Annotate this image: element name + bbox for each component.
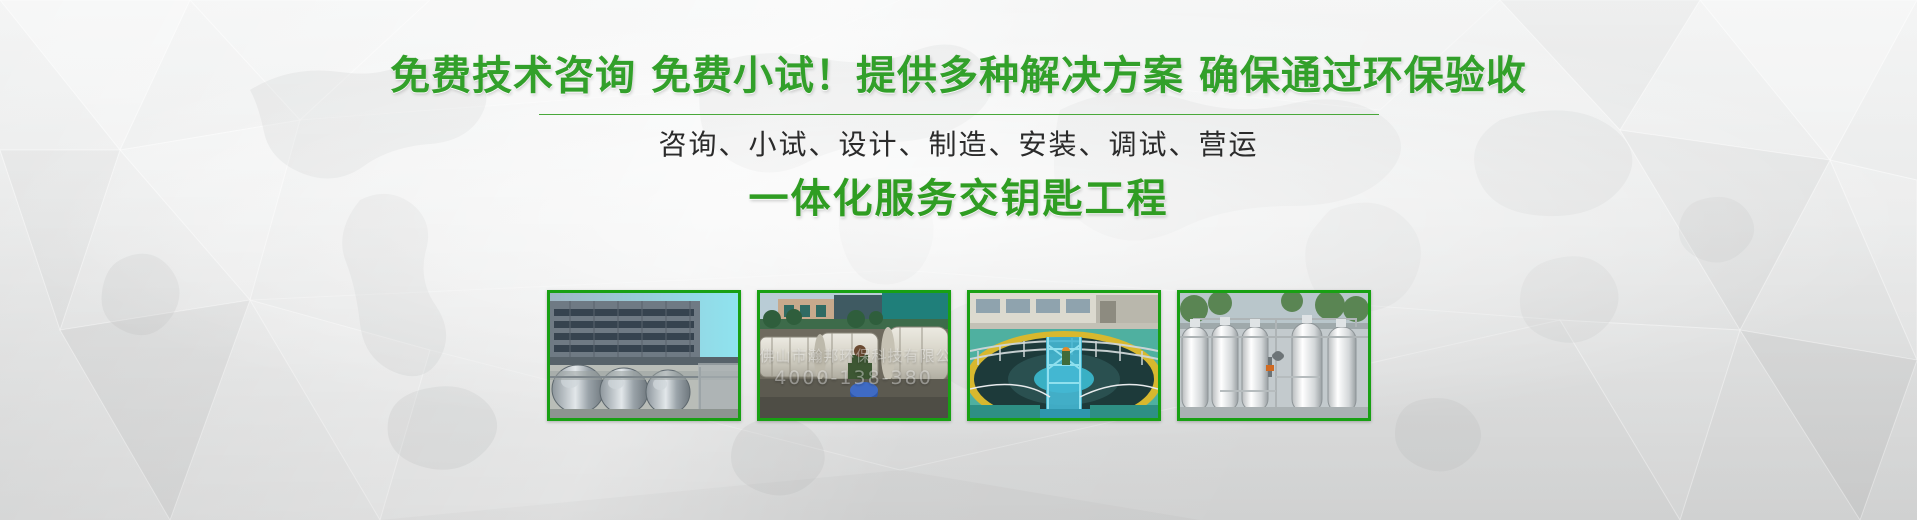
watermark-company: 佛山市瀚邦环保科技有限公司 xyxy=(760,345,948,366)
banner-subline: 咨询、小试、设计、制造、安装、调试、营运 xyxy=(0,115,1917,159)
photo-thumbnail[interactable]: 佛山市瀚邦环保科技有限公司 4000-138-380 xyxy=(757,290,951,421)
filter-vessels-image xyxy=(1180,293,1368,418)
promo-banner: 免费技术咨询 免费小试！提供多种解决方案 确保通过环保验收 咨询、小试、设计、制… xyxy=(0,0,1917,520)
watermark-phone: 4000-138-380 xyxy=(760,367,948,389)
photo-strip: 佛山市瀚邦环保科技有限公司 4000-138-380 xyxy=(0,290,1917,421)
sedimentation-tank-image xyxy=(970,293,1158,418)
banner-content: 免费技术咨询 免费小试！提供多种解决方案 确保通过环保验收 咨询、小试、设计、制… xyxy=(0,0,1917,219)
banner-main-title: 一体化服务交钥匙工程 xyxy=(0,159,1917,219)
green-divider-rule xyxy=(539,114,1379,115)
photo-thumbnail[interactable] xyxy=(547,290,741,421)
banner-headline: 免费技术咨询 免费小试！提供多种解决方案 确保通过环保验收 xyxy=(0,0,1917,96)
photo-thumbnail[interactable] xyxy=(1177,290,1371,421)
factory-tanks-image xyxy=(550,293,738,418)
photo-thumbnail[interactable] xyxy=(967,290,1161,421)
